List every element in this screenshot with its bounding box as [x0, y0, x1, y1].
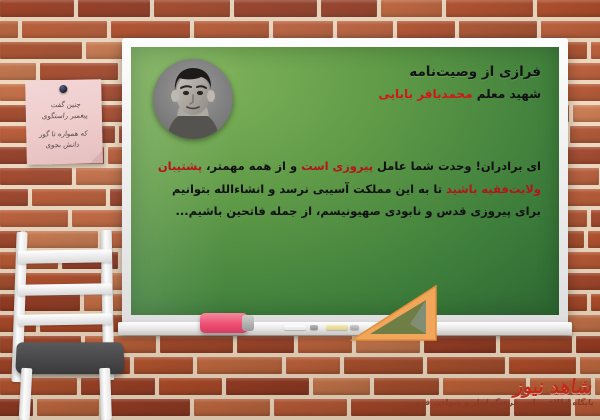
brick	[194, 399, 270, 416]
brick	[273, 21, 333, 38]
brick	[237, 336, 294, 353]
martyr-name: محمدباقر بابایی	[378, 87, 472, 101]
brick	[459, 21, 537, 38]
note-text: چنین گفت پیغمبر راستگوی که همواره تا گور…	[24, 99, 104, 152]
chalkboard-frame: فرازی از وصیت‌نامه شهید معلم محمدباقر با…	[122, 38, 568, 324]
brick	[298, 336, 352, 353]
subtitle-prefix: شهید معلم	[477, 87, 541, 101]
classroom-chair	[2, 228, 130, 420]
will-excerpt-text: ای برادران! وحدت شما عامل پیروزی است و ا…	[147, 155, 541, 223]
brick	[427, 357, 505, 374]
set-square-triangle[interactable]	[350, 284, 442, 344]
brick	[0, 42, 82, 59]
chalk-stick-gray[interactable]	[310, 325, 318, 330]
board-subtitle: شهید معلم محمدباقر بابایی	[378, 83, 541, 105]
classroom-scene: چنین گفت پیغمبر راستگوی که همواره تا گور…	[0, 0, 600, 420]
brick	[0, 210, 68, 227]
brick	[573, 105, 600, 122]
brick	[40, 63, 118, 80]
chair-leg-front-left	[19, 368, 33, 420]
brick	[537, 0, 600, 17]
wall-note[interactable]: چنین گفت پیغمبر راستگوی که همواره تا گور…	[25, 79, 103, 165]
brick	[274, 399, 347, 416]
brick	[381, 0, 442, 17]
brick	[111, 21, 190, 38]
brick	[591, 210, 600, 227]
brick	[134, 357, 193, 374]
watermark-tagline: پایگاه اطلاع‌رسانی فرهنگ ایثار و شهادت ق…	[404, 398, 594, 407]
brick	[286, 357, 340, 374]
pushpin-icon	[59, 85, 67, 93]
brick	[0, 63, 36, 80]
brick	[32, 189, 106, 206]
brick	[500, 336, 572, 353]
brick	[197, 357, 282, 374]
martyr-portrait	[153, 59, 233, 139]
site-watermark: شاهد نیوز پایگاه اطلاع‌رسانی فرهنگ ایثار…	[400, 374, 596, 418]
board-eraser[interactable]	[200, 313, 248, 333]
brick	[321, 0, 377, 17]
note-line: دانش بجوی	[24, 139, 101, 152]
brick	[0, 0, 74, 17]
brick	[0, 105, 28, 122]
brick	[446, 0, 533, 17]
brick	[591, 294, 600, 311]
chair-rail-top	[18, 249, 112, 264]
brick	[234, 0, 317, 17]
brick	[567, 63, 600, 80]
brick	[576, 336, 600, 353]
brick	[344, 357, 423, 374]
brick	[78, 0, 150, 17]
brick	[564, 252, 600, 269]
brick	[0, 189, 28, 206]
chair-leg-front-right	[99, 368, 112, 420]
brick	[0, 168, 72, 185]
board-header: فرازی از وصیت‌نامه شهید معلم محمدباقر با…	[378, 61, 541, 105]
brick	[0, 21, 18, 38]
brick	[226, 378, 309, 395]
brick	[154, 0, 230, 17]
brick	[570, 126, 600, 143]
brick	[588, 231, 600, 248]
chalk-stick-yellow[interactable]	[326, 325, 348, 330]
brick	[313, 378, 370, 395]
brick	[397, 21, 455, 38]
board-title: فرازی از وصیت‌نامه	[378, 61, 541, 83]
brick	[194, 21, 269, 38]
chalkboard: فرازی از وصیت‌نامه شهید معلم محمدباقر با…	[131, 47, 559, 315]
chair-rail-mid	[18, 283, 112, 296]
brick	[337, 21, 393, 38]
chair-rail-low	[18, 313, 112, 326]
brick	[541, 21, 600, 38]
brick	[509, 357, 576, 374]
brick	[580, 357, 600, 374]
brick	[22, 21, 107, 38]
watermark-brand: شاهد نیوز	[512, 376, 593, 398]
brick	[159, 378, 222, 395]
brick	[160, 336, 233, 353]
chalk-stick-white[interactable]	[284, 325, 306, 330]
brick	[591, 42, 600, 59]
